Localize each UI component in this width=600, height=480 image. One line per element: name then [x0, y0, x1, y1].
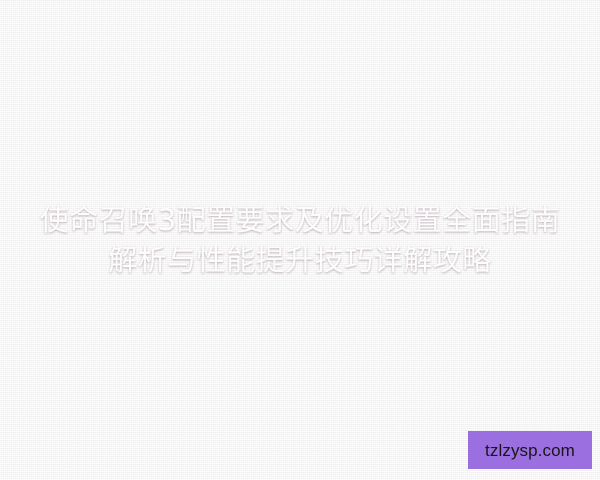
title-line-1: 使命召唤3配置要求及优化设置全面指南 — [18, 200, 582, 240]
watermark-domain-label: tzlzysp.com — [485, 442, 575, 459]
watermark-badge: tzlzysp.com — [468, 431, 592, 469]
poster-canvas: 使命召唤3配置要求及优化设置全面指南 解析与性能提升技巧详解攻略 tzlzysp… — [0, 0, 600, 480]
poster-title: 使命召唤3配置要求及优化设置全面指南 解析与性能提升技巧详解攻略 — [0, 200, 600, 280]
title-line-2: 解析与性能提升技巧详解攻略 — [18, 240, 582, 280]
